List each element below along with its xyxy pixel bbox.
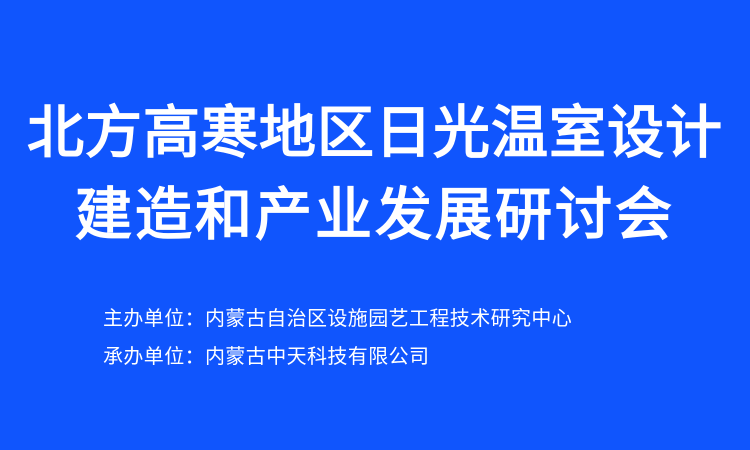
banner-title: 北方高寒地区日光温室设计 建造和产业发展研讨会 — [0, 92, 750, 256]
title-line-2: 建造和产业发展研讨会 — [0, 174, 750, 256]
title-line-1: 北方高寒地区日光温室设计 — [0, 92, 750, 174]
event-banner: 北方高寒地区日光温室设计 建造和产业发展研讨会 主办单位：内蒙古自治区设施园艺工… — [0, 0, 750, 450]
co-organizer-line: 承办单位：内蒙古中天科技有限公司 — [103, 338, 703, 376]
banner-subtitle: 主办单位：内蒙古自治区设施园艺工程技术研究中心 承办单位：内蒙古中天科技有限公司 — [103, 300, 703, 376]
organizer-line: 主办单位：内蒙古自治区设施园艺工程技术研究中心 — [103, 300, 703, 338]
